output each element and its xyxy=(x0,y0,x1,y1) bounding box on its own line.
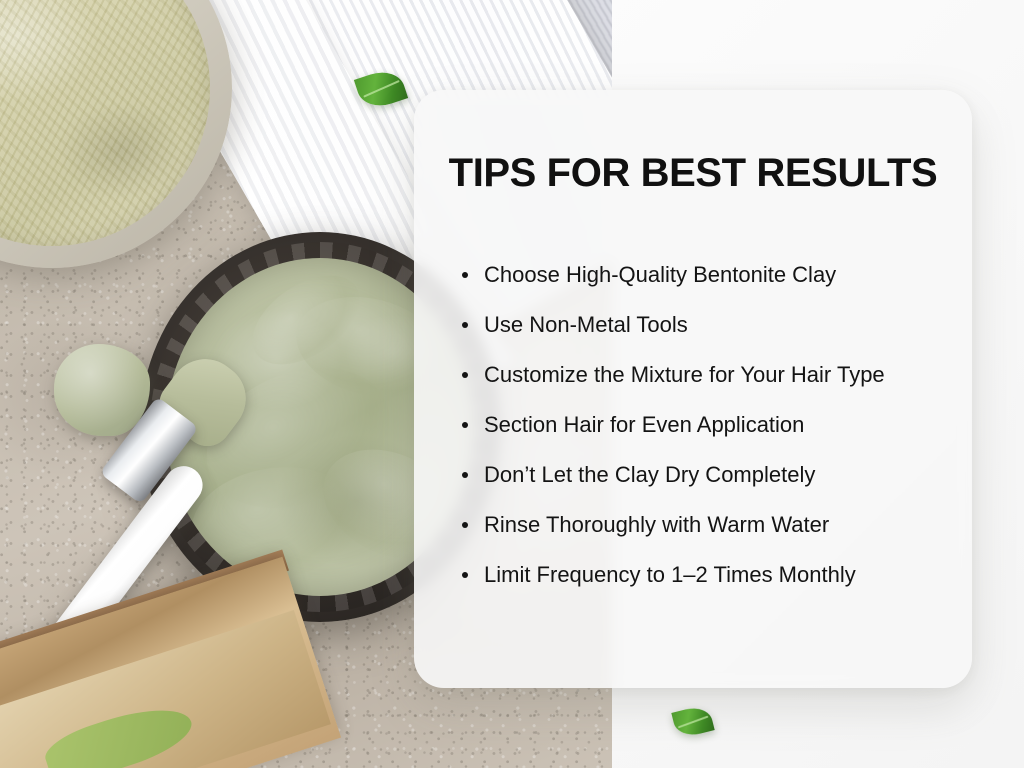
list-item: Customize the Mixture for Your Hair Type xyxy=(484,350,970,400)
poster-canvas: TIPS FOR BEST RESULTS Choose High-Qualit… xyxy=(0,0,1024,768)
tips-card: TIPS FOR BEST RESULTS Choose High-Qualit… xyxy=(414,90,972,688)
list-item: Don’t Let the Clay Dry Completely xyxy=(484,450,970,500)
tips-list: Choose High-Quality Bentonite Clay Use N… xyxy=(458,250,970,600)
page-title: TIPS FOR BEST RESULTS xyxy=(440,152,946,194)
leaf-icon-bottom xyxy=(671,704,714,739)
clay-dollop xyxy=(54,344,150,436)
list-item: Choose High-Quality Bentonite Clay xyxy=(484,250,970,300)
list-item: Use Non-Metal Tools xyxy=(484,300,970,350)
list-item: Limit Frequency to 1–2 Times Monthly xyxy=(484,550,970,600)
list-item: Section Hair for Even Application xyxy=(484,400,970,450)
list-item: Rinse Thoroughly with Warm Water xyxy=(484,500,970,550)
